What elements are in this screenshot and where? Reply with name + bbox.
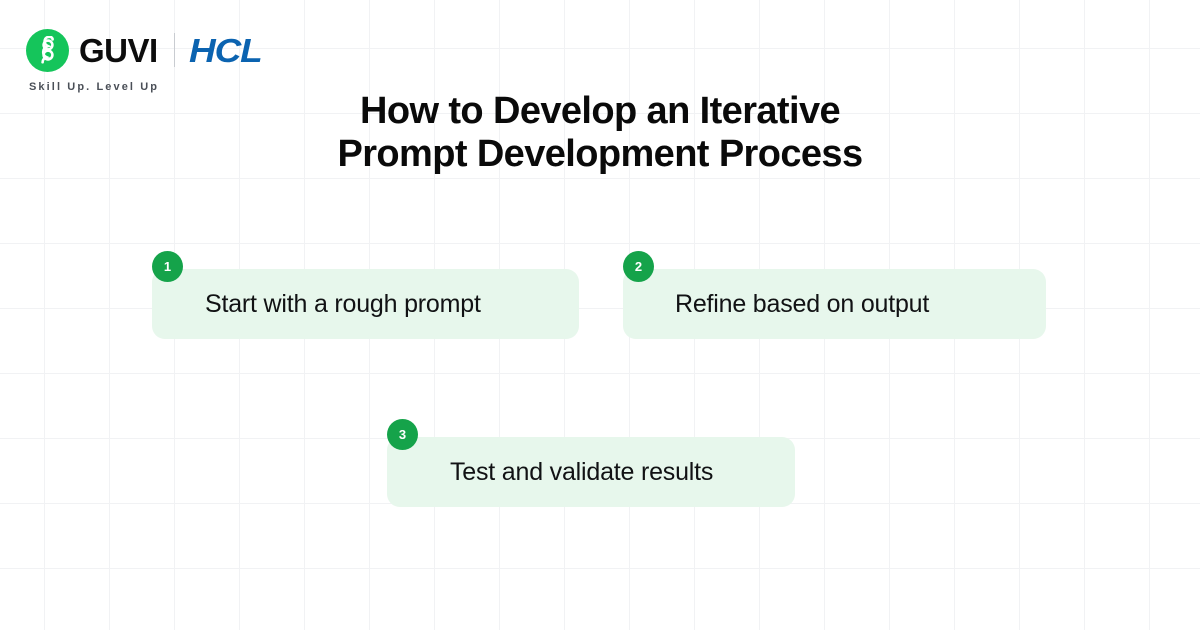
brand-lockup: GUVI HCL Skill Up. Level Up xyxy=(26,28,446,93)
step-label-3: Test and validate results xyxy=(450,458,713,487)
guvi-wordmark: GUVI xyxy=(79,34,158,67)
brand-divider xyxy=(174,33,175,67)
poster-canvas: GUVI HCL Skill Up. Level Up How to Devel… xyxy=(0,0,1200,630)
step-label-2: Refine based on output xyxy=(675,290,929,319)
page-title-line-2: Prompt Development Process xyxy=(0,133,1200,176)
page-title-line-1: How to Develop an Iterative xyxy=(0,90,1200,133)
step-number-badge-2: 2 xyxy=(623,251,654,282)
step-number-badge-3: 3 xyxy=(387,419,418,450)
step-card-3: Test and validate results xyxy=(387,437,795,507)
hcl-wordmark: HCL xyxy=(189,34,262,67)
page-title: How to Develop an Iterative Prompt Devel… xyxy=(0,90,1200,175)
guvi-g-mark-icon xyxy=(26,29,69,72)
step-card-2: Refine based on output xyxy=(623,269,1046,339)
step-card-1: Start with a rough prompt xyxy=(152,269,579,339)
step-label-1: Start with a rough prompt xyxy=(205,290,481,319)
brand-row: GUVI HCL xyxy=(26,28,446,72)
step-number-badge-1: 1 xyxy=(152,251,183,282)
